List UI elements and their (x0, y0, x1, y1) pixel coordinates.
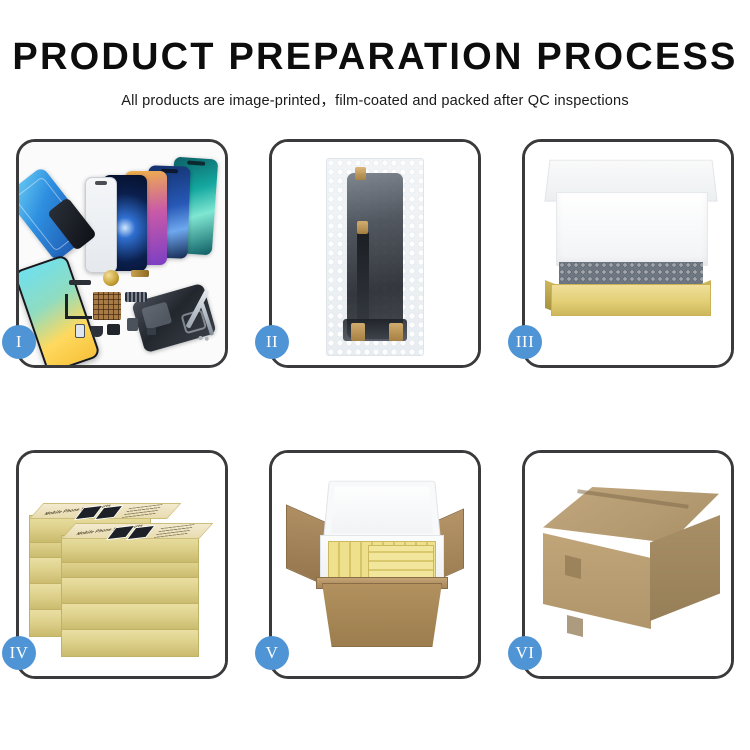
step-image-5 (272, 453, 478, 676)
carton-tape-mark (567, 615, 583, 637)
step-panel-3: III (522, 139, 734, 368)
box-label-specs (122, 504, 163, 518)
gold-coil-part (103, 270, 119, 286)
box-label-specs (154, 524, 195, 538)
stacked-box-top-front: Mobile Phone Spare Parts (61, 535, 199, 563)
carton-tape-mark (565, 555, 581, 579)
step-panel-5: V (269, 450, 481, 679)
connector-ribbon-part (125, 292, 147, 302)
box-front-yellow (551, 284, 711, 316)
speaker-bar-part (69, 280, 91, 285)
small-bracket-part (147, 328, 156, 335)
foam-lid (323, 481, 441, 540)
camera-module-part (107, 324, 120, 335)
step-panel-4: Mobile Phone Spare Parts (16, 450, 228, 679)
steps-grid: I II (16, 139, 734, 679)
step-image-3 (525, 142, 731, 365)
foam-sheet (556, 192, 708, 266)
tape-tab (357, 221, 368, 234)
product-preparation-infographic: PRODUCT PREPARATION PROCESS All products… (0, 0, 750, 750)
receiver-part (91, 326, 103, 337)
notch-icon (95, 181, 107, 185)
step-panel-6: VI (522, 450, 734, 679)
page-title: PRODUCT PREPARATION PROCESS (0, 38, 750, 78)
flex-cable-part (65, 294, 92, 319)
step-image-2 (272, 142, 478, 365)
box-lid-face: Mobile Phone Spare Parts (61, 523, 213, 539)
tape-tab (355, 167, 366, 180)
step-panel-1: I (16, 139, 228, 368)
page-subtitle: All products are image-printed，film-coat… (0, 89, 750, 110)
copper-grid-part (93, 292, 121, 320)
box-lid-face: Mobile Phone Spare Parts (29, 503, 181, 519)
stacked-box (61, 603, 199, 631)
step-image-1 (19, 142, 225, 365)
chip-part (127, 318, 138, 331)
box-stack: Mobile Phone Spare Parts (27, 475, 223, 665)
wrapped-flex-cable (357, 231, 369, 323)
stacked-box (61, 629, 199, 657)
bubble-wrap-bag (326, 158, 424, 356)
yellow-boxes-row (368, 545, 434, 579)
carton-front (322, 583, 442, 647)
tape-tab (389, 323, 403, 341)
step-panel-2: II (269, 139, 481, 368)
step-badge-4: IV (2, 636, 36, 670)
tape-tab (351, 323, 365, 341)
step-badge-1: I (2, 325, 36, 359)
screws-part (197, 334, 211, 342)
sim-tray-part (75, 324, 85, 338)
gold-connector-part (131, 270, 149, 277)
notch-icon (187, 160, 205, 165)
stacked-box (61, 577, 199, 605)
step-badge-2: II (255, 325, 289, 359)
step-image-6 (525, 453, 731, 676)
step-badge-5: V (255, 636, 289, 670)
step-badge-6: VI (508, 636, 542, 670)
step-image-4: Mobile Phone Spare Parts (19, 453, 225, 676)
step-badge-3: III (508, 325, 542, 359)
header: PRODUCT PREPARATION PROCESS All products… (0, 0, 750, 110)
wrapped-phone-part (347, 173, 403, 339)
